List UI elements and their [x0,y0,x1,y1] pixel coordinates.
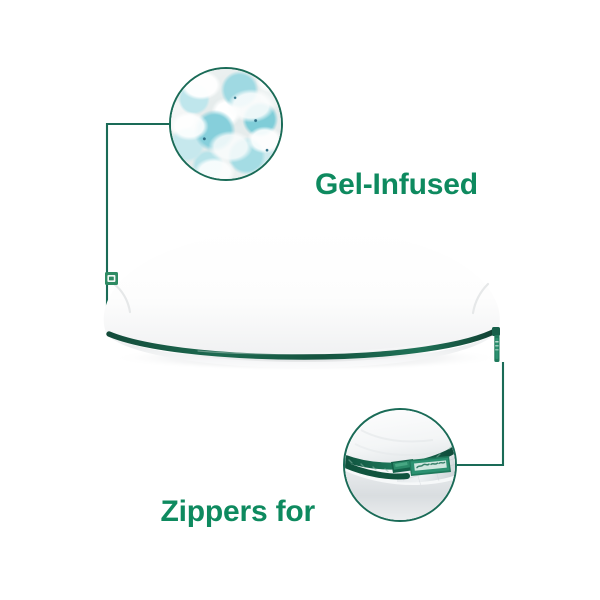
pillow-brand-tag [105,272,118,285]
feature-label-zippers-easy-adjustability: Zippers for Easy Adjustability [25,421,315,600]
gel-foam-image [169,67,283,181]
pillow-body-top [104,228,500,355]
zipper-closeup-image [345,410,457,522]
infographic-canvas: Gel-Infused Cooling [0,0,600,600]
callout-circle-gel-foam [169,67,283,181]
gel-speck-texture [169,67,283,181]
feature-label-line-1: Zippers for [25,494,315,531]
callout-circle-zipper [343,408,457,522]
product-pillow-image [78,214,522,374]
feature-label-line-1: Gel-Infused [315,167,478,204]
